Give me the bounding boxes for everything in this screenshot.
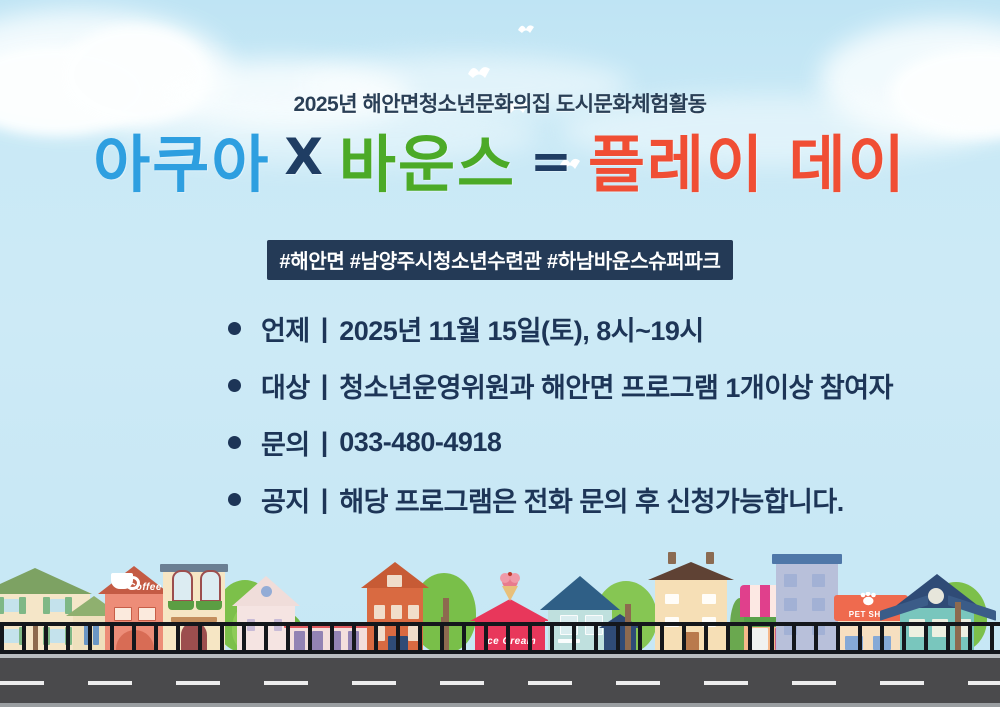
info-row: 문의 | 033-480-4918 bbox=[228, 414, 988, 471]
window-shape bbox=[50, 599, 65, 612]
poster-subtitle: 2025년 해안면청소년문화의집 도시문화체험활동 bbox=[0, 88, 1000, 118]
window-shape bbox=[138, 607, 156, 621]
window-shape bbox=[702, 594, 716, 604]
window-shape bbox=[665, 594, 679, 604]
title-times-symbol: X bbox=[284, 132, 325, 182]
window-shape bbox=[812, 598, 825, 611]
roof-shape bbox=[648, 562, 734, 580]
arched-window bbox=[200, 570, 221, 602]
cityscape-illustration: Coffee bbox=[0, 547, 1000, 707]
info-value: 2025년 11월 15일(토), 8시~19시 bbox=[339, 309, 703, 348]
coffee-shop-sign: Coffee bbox=[128, 582, 162, 593]
flower-box bbox=[196, 601, 222, 610]
window-shape bbox=[784, 574, 797, 587]
info-row: 언제 | 2025년 11월 15일(토), 8시~19시 bbox=[228, 300, 988, 357]
window-shape bbox=[374, 605, 385, 619]
shutter-shape bbox=[43, 597, 50, 614]
arched-window bbox=[172, 570, 193, 602]
info-label: 언제 bbox=[261, 309, 310, 348]
title-word-play-day: 플레이 데이 bbox=[588, 134, 907, 196]
window-shape bbox=[387, 575, 402, 587]
window-shape bbox=[114, 607, 132, 621]
chimney-shape bbox=[706, 552, 714, 564]
shutter-shape bbox=[0, 597, 4, 614]
road-lane-markings bbox=[0, 681, 1000, 685]
ice-cream-cone-icon bbox=[497, 572, 523, 607]
poster-canvas: 2025년 해안면청소년문화의집 도시문화체험활동 아쿠아X바운스=플레이 데이… bbox=[0, 0, 1000, 707]
info-value: 해당 프로그램은 전화 문의 후 신청가능합니다. bbox=[339, 480, 843, 519]
hashtag-bar: #해안면 #남양주시청소년수련관 #하남바운스슈퍼파크 bbox=[0, 240, 1000, 280]
poster-main-title: 아쿠아X바운스=플레이 데이 bbox=[0, 132, 1000, 196]
info-value: 청소년운영위원과 해안면 프로그램 1개이상 참여자 bbox=[339, 366, 893, 405]
info-label: 공지 bbox=[261, 480, 310, 519]
bullet-dot-icon bbox=[228, 379, 241, 392]
shutter-shape bbox=[19, 597, 26, 614]
info-separator: | bbox=[321, 484, 329, 515]
hashtag-text: #해안면 #남양주시청소년수련관 #하남바운스슈퍼파크 bbox=[267, 240, 732, 280]
bullet-dot-icon bbox=[228, 493, 241, 506]
info-row: 공지 | 해당 프로그램은 전화 문의 후 신청가능합니다. bbox=[228, 471, 988, 528]
title-word-aqua: 아쿠아 bbox=[93, 134, 270, 196]
round-window bbox=[928, 588, 944, 604]
bullet-dot-icon bbox=[228, 322, 241, 335]
roof-shape bbox=[540, 576, 620, 610]
info-separator: | bbox=[321, 370, 329, 401]
roof-shape bbox=[0, 568, 92, 594]
street-railing bbox=[0, 622, 1000, 654]
window-shape bbox=[812, 574, 825, 587]
info-separator: | bbox=[321, 427, 329, 458]
building-cornice bbox=[772, 554, 842, 564]
chimney-shape bbox=[668, 552, 676, 564]
window-shape bbox=[784, 598, 797, 611]
building-cornice bbox=[160, 564, 228, 572]
info-separator: | bbox=[321, 313, 329, 344]
title-equals-symbol: = bbox=[530, 136, 574, 186]
info-label: 대상 bbox=[261, 366, 310, 405]
bullet-dot-icon bbox=[228, 436, 241, 449]
flower-box bbox=[168, 601, 194, 610]
road-surface bbox=[0, 654, 1000, 707]
window-shape bbox=[408, 605, 419, 619]
info-value: 033-480-4918 bbox=[339, 427, 501, 458]
paw-print-icon bbox=[859, 592, 879, 611]
info-row: 대상 | 청소년운영위원과 해안면 프로그램 1개이상 참여자 bbox=[228, 357, 988, 414]
info-label: 문의 bbox=[261, 423, 310, 462]
info-list: 언제 | 2025년 11월 15일(토), 8시~19시 대상 | 청소년운영… bbox=[228, 300, 988, 528]
window-shape bbox=[4, 599, 19, 612]
title-word-bounce: 바운스 bbox=[339, 134, 516, 196]
round-window bbox=[261, 586, 272, 597]
window-shape bbox=[391, 605, 402, 619]
